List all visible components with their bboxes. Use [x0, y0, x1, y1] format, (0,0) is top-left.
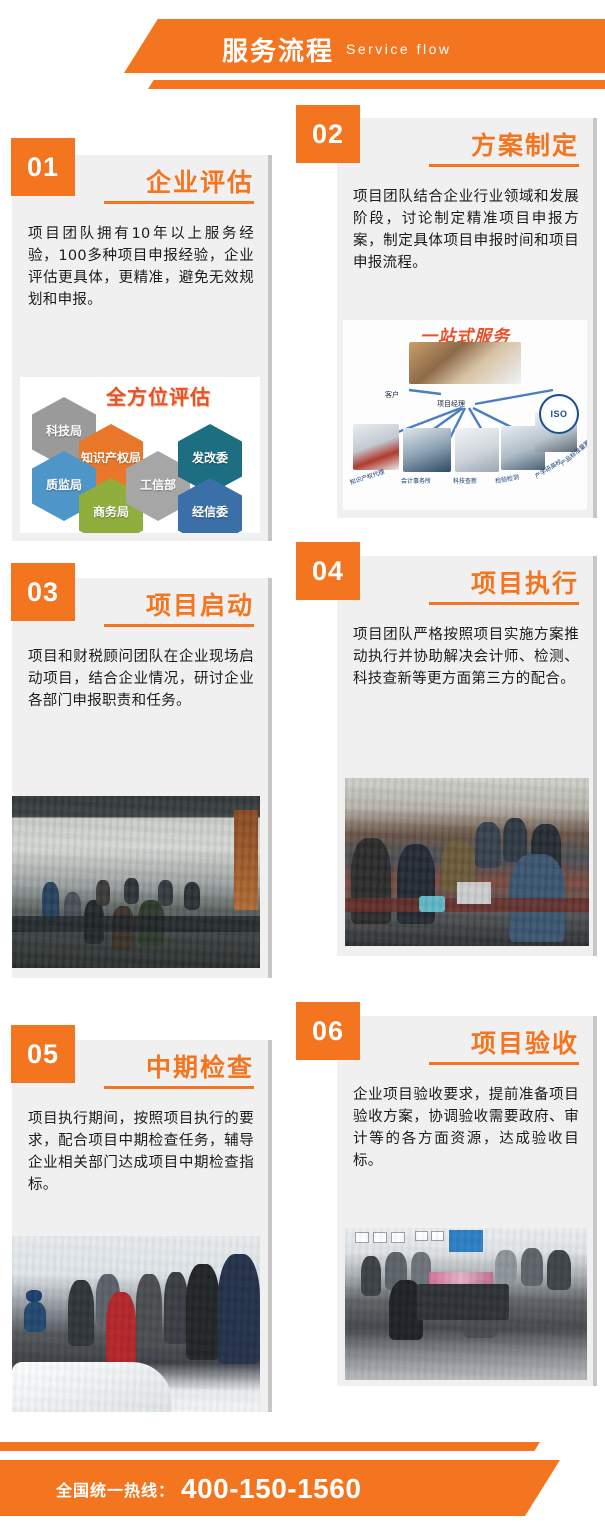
title-underline-04 [429, 602, 579, 605]
photo-conference-room [12, 796, 260, 968]
service-flow-poster: 服务流程 Service flow 01 企业评估 项目团队拥有10年以上服务经… [0, 0, 605, 1538]
footer-band-secondary [0, 1442, 540, 1451]
step-card-06[interactable]: 06 项目验收 企业项目验收要求，提前准备项目验收方案，协调验收需要政府、审计等… [337, 1016, 593, 1386]
one-stop-node-label-2: 科技查新 [453, 476, 477, 485]
step-number-03: 03 [11, 563, 75, 621]
title-underline-01 [104, 201, 254, 204]
step-card-05[interactable]: 05 中期检查 项目执行期间，按照项目执行的要求，配合项目中期检查任务，辅导企业… [12, 1040, 268, 1412]
title-underline-02 [429, 164, 579, 167]
hotline-label: 全国统一热线： [56, 1477, 175, 1501]
step-card-02[interactable]: 02 方案制定 项目团队结合企业行业领域和发展阶段，讨论制定精准项目申报方案，制… [337, 118, 593, 518]
step-card-03[interactable]: 03 项目启动 项目和财税顾问团队在企业现场启动项目，结合企业情况，研讨企业各部… [12, 578, 268, 978]
title-underline-06 [429, 1062, 579, 1065]
hexagon-diagram-title: 全方位评估 [106, 381, 211, 410]
one-stop-node-0 [353, 424, 399, 470]
step-number-06: 06 [296, 1002, 360, 1060]
step-number-04: 04 [296, 542, 360, 600]
page-subtitle: Service flow [346, 41, 451, 57]
page-title: 服务流程 [222, 31, 334, 68]
card-head-06: 项目验收 [337, 1016, 593, 1078]
hotline-number[interactable]: 400-150-1560 [181, 1473, 361, 1505]
photo-boardroom [345, 1228, 587, 1380]
step-body-04: 项目团队严格按照项目实施方案推动执行并协助解决会计师、检测、科技查新等更方面第三… [337, 618, 593, 698]
step-body-06: 企业项目验收要求，提前准备项目验收方案，协调验收需要政府、审计等的各方面资源，达… [337, 1078, 593, 1180]
one-stop-node-1 [403, 428, 451, 472]
hexagon-diagram: 全方位评估 科技局 知识产权局 质监局 商务局 工信部 发改委 经信委 [20, 377, 260, 533]
hotline-group: 全国统一热线： 400-150-1560 [56, 1468, 361, 1510]
step-body-03: 项目和财税顾问团队在企业现场启动项目，结合企业情况，研讨企业各部门申报职责和任务… [12, 640, 268, 720]
one-stop-service-diagram: 一站式服务 客户 项目经理 ISO [343, 320, 587, 510]
title-underline-03 [104, 624, 254, 627]
iso-seal-icon: ISO [539, 394, 579, 434]
step-number-01: 01 [11, 138, 75, 196]
header-band-secondary [148, 80, 605, 89]
step-number-02: 02 [296, 105, 360, 163]
one-stop-node-label-1: 会计事务所 [401, 476, 431, 485]
step-title-05: 中期检查 [146, 1048, 254, 1084]
one-stop-node-2 [455, 428, 499, 472]
card-head-02: 方案制定 [337, 118, 593, 180]
step-body-01: 项目团队拥有10年以上服务经验，100多种项目申报经验，企业评估更具体，更精准，… [12, 217, 268, 319]
step-card-01[interactable]: 01 企业评估 项目团队拥有10年以上服务经验，100多种项目申报经验，企业评估… [12, 155, 268, 541]
step-body-05: 项目执行期间，按照项目执行的要求，配合项目中期检查任务，辅导企业相关部门达成项目… [12, 1102, 268, 1204]
step-title-03: 项目启动 [146, 586, 254, 622]
step-title-01: 企业评估 [146, 163, 254, 199]
photo-working-meeting [345, 778, 589, 946]
step-body-02: 项目团队结合企业行业领域和发展阶段，讨论制定精准项目申报方案，制定具体项目申报时… [337, 180, 593, 282]
step-card-04[interactable]: 04 项目执行 项目团队严格按照项目实施方案推动执行并协助解决会计师、检测、科技… [337, 556, 593, 956]
header-title-group: 服务流程 Service flow [222, 26, 602, 72]
page-footer: 全国统一热线： 400-150-1560 [0, 1398, 605, 1538]
card-head-04: 项目执行 [337, 556, 593, 618]
step-title-06: 项目验收 [471, 1024, 579, 1060]
step-title-04: 项目执行 [471, 564, 579, 600]
title-underline-05 [104, 1086, 254, 1089]
step-number-05: 05 [11, 1025, 75, 1083]
photo-lobby-visit [12, 1236, 260, 1412]
step-title-02: 方案制定 [471, 126, 579, 162]
